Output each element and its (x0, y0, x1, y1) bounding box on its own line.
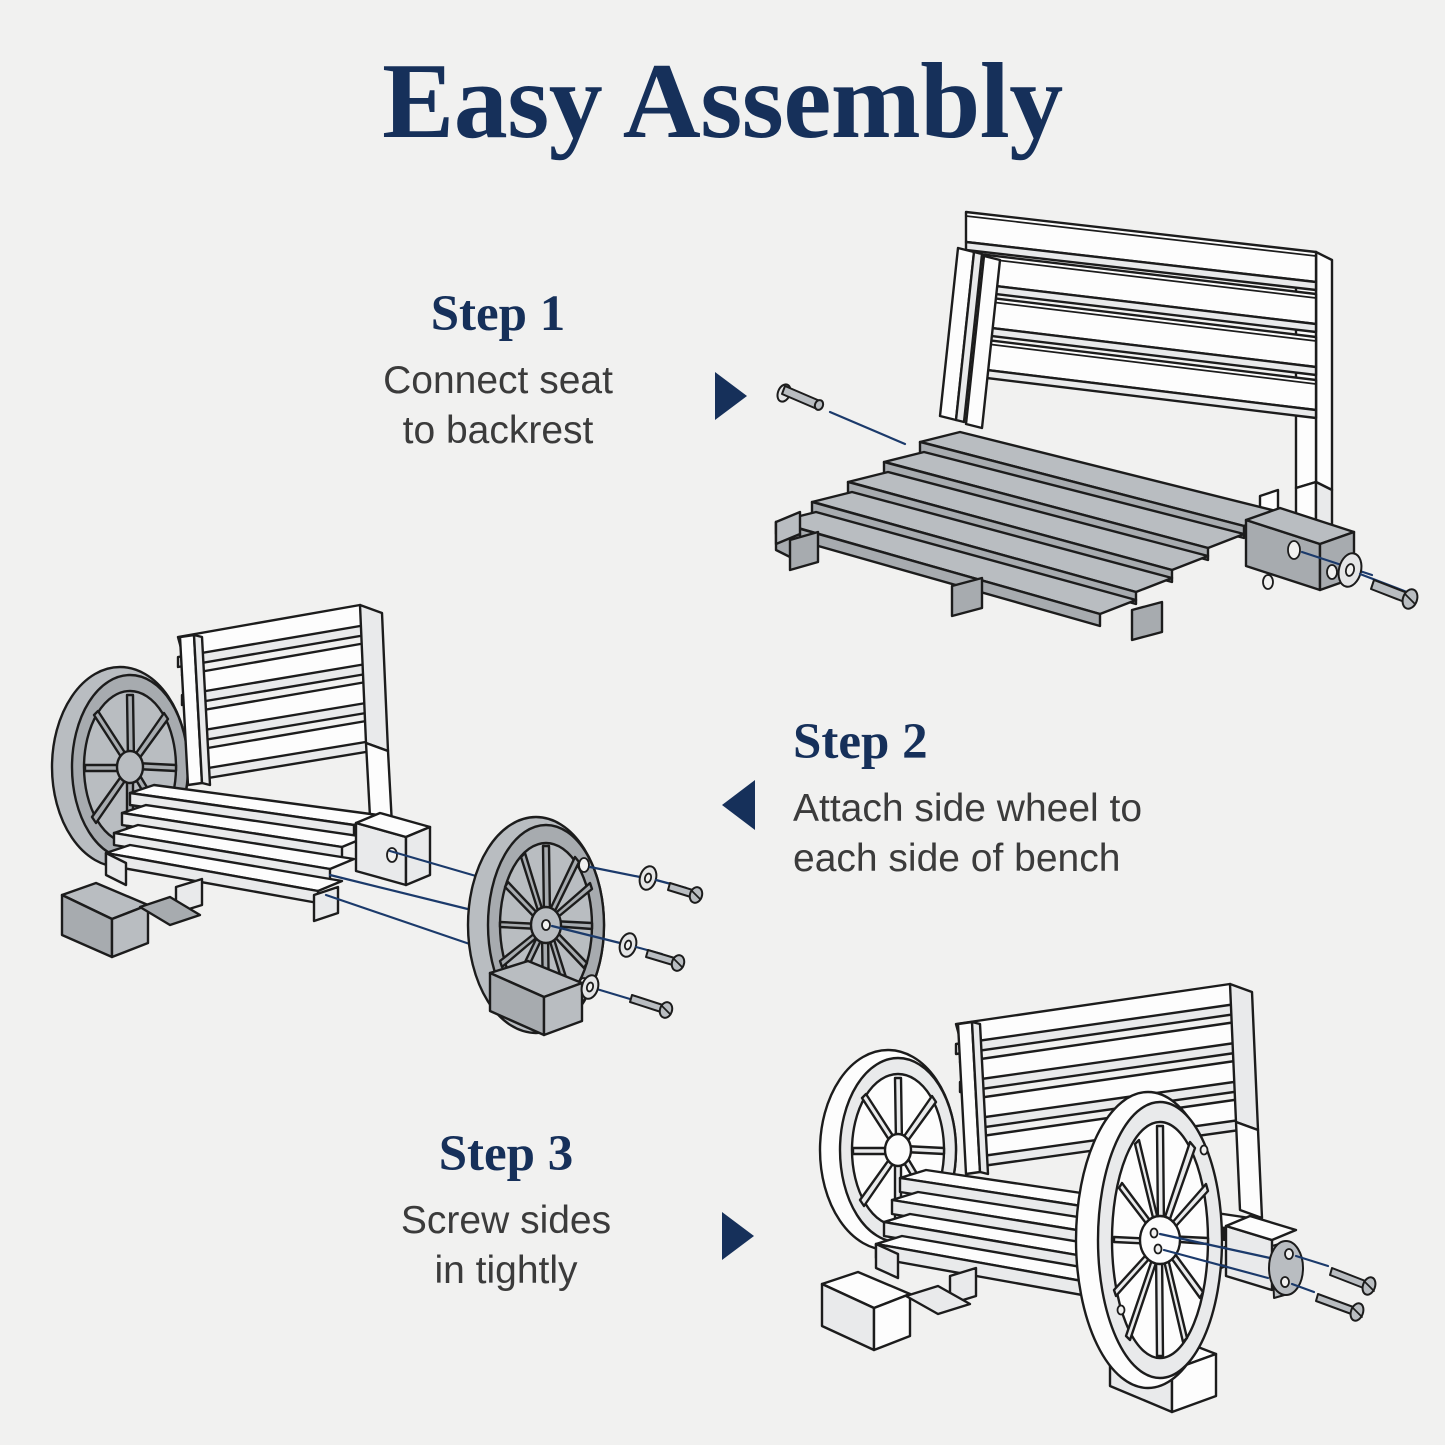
step-2-body-line-1: Attach side wheel to (793, 784, 1263, 835)
backrest-left-posts (940, 248, 1000, 428)
step-2-text-block: Step 2 Attach side wheel to each side of… (793, 716, 1263, 885)
hardware-set-3 (579, 973, 674, 1019)
step-3-illustration (780, 950, 1430, 1420)
step-3-body-line-1: Screw sides (316, 1196, 696, 1247)
step-3-heading: Step 3 (316, 1128, 696, 1182)
step-1-body-line-1: Connect seat (300, 356, 696, 407)
step-2-heading: Step 2 (793, 716, 1263, 770)
step-3-body-line-2: in tightly (316, 1246, 696, 1297)
arrow-right-icon (715, 372, 747, 420)
hardware-set-1 (590, 864, 704, 904)
hardware-screw-2 (1292, 1284, 1366, 1323)
hardware-bolt-lower (1360, 574, 1420, 611)
left-base-leg (822, 1272, 970, 1350)
step-1-illustration (760, 190, 1420, 620)
seat-assembly (776, 432, 1354, 640)
hub-cap (1269, 1241, 1303, 1298)
bench-seat-and-backrest-exploded-svg (760, 190, 1420, 620)
step-1-heading: Step 1 (300, 288, 696, 342)
arrow-right-icon (722, 1212, 754, 1260)
step-1-body-line-2: to backrest (300, 406, 696, 457)
assembly-infographic: Easy Assembly Step 1 Connect seat to bac… (0, 0, 1445, 1445)
step-2-illustration (30, 565, 730, 1035)
assembled-bench-with-hub-cap-exploded-svg (780, 950, 1430, 1420)
step-3-text-block: Step 3 Screw sides in tightly (316, 1128, 696, 1297)
right-wagon-wheel (1076, 1092, 1222, 1388)
step-2-body-line-2: each side of bench (793, 834, 1263, 885)
bench-with-wagon-wheel-exploded-svg (30, 565, 730, 1035)
page-title: Easy Assembly (0, 42, 1445, 163)
step-1-text-block: Step 1 Connect seat to backrest (300, 288, 696, 457)
hardware-bolt-upper (775, 382, 905, 444)
